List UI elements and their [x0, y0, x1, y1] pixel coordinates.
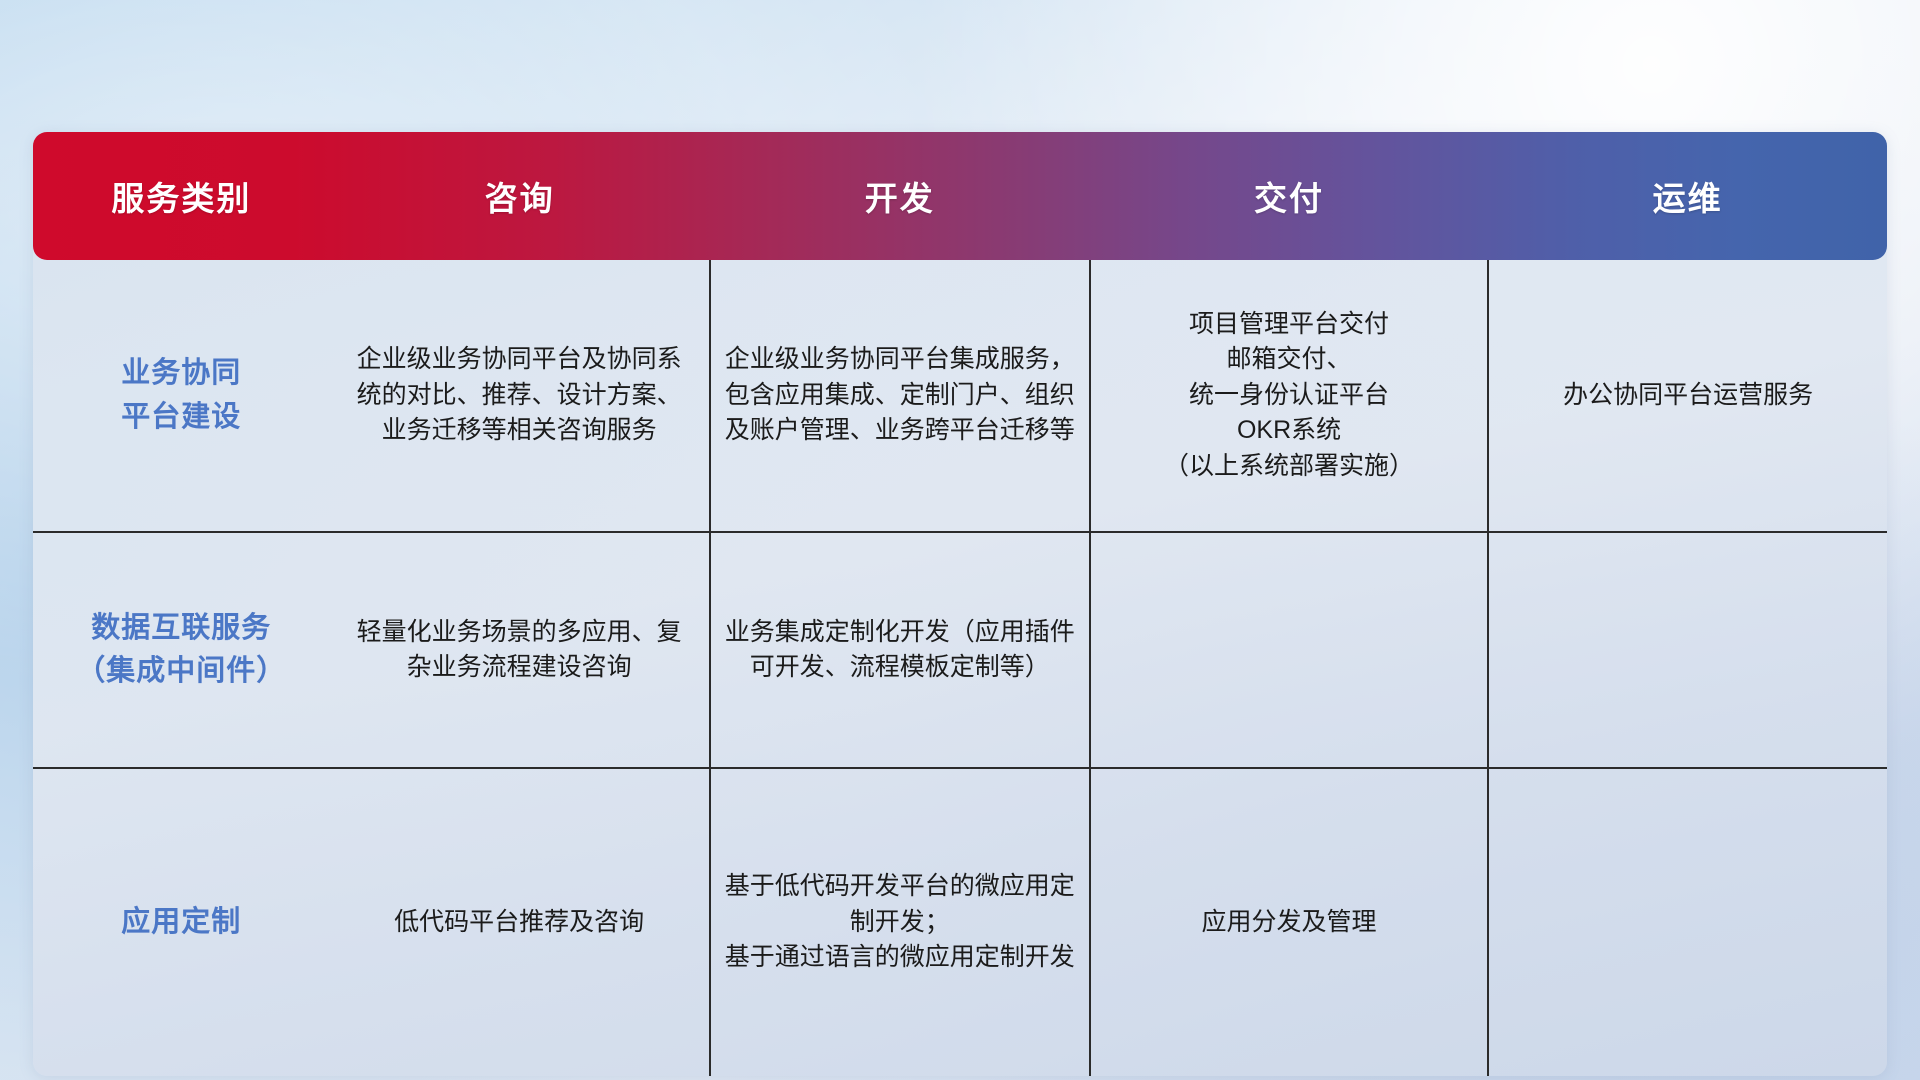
- cell-row3-delivery: 应用分发及管理: [1090, 768, 1489, 1076]
- service-matrix-table-wrapper: 服务类别 咨询 开发 交付 运维 业务协同 平台建设 企业级业务协同平台及协同系…: [33, 132, 1887, 948]
- service-matrix-table: 服务类别 咨询 开发 交付 运维 业务协同 平台建设 企业级业务协同平台及协同系…: [33, 132, 1887, 1076]
- column-header-development: 开发: [710, 132, 1090, 260]
- cell-row3-development: 基于低代码开发平台的微应用定 制开发； 基于通过语言的微应用定制开发: [710, 768, 1090, 1076]
- table-row: 应用定制 低代码平台推荐及咨询 基于低代码开发平台的微应用定 制开发； 基于通过…: [33, 768, 1887, 1076]
- header-row: 服务类别 咨询 开发 交付 运维: [33, 132, 1887, 260]
- cell-row1-operations: 办公协同平台运营服务: [1488, 260, 1887, 532]
- cell-row1-delivery: 项目管理平台交付 邮箱交付、 统一身份认证平台 OKR系统 （以上系统部署实施）: [1090, 260, 1489, 532]
- cell-row3-consulting: 低代码平台推荐及咨询: [330, 768, 710, 1076]
- cell-row2-development: 业务集成定制化开发（应用插件 可开发、流程模板定制等）: [710, 532, 1090, 768]
- cell-row2-operations: [1488, 532, 1887, 768]
- cell-row3-operations: [1488, 768, 1887, 1076]
- row-label-business-collaboration-platform: 业务协同 平台建设: [33, 260, 330, 532]
- column-header-delivery: 交付: [1090, 132, 1489, 260]
- table-row: 业务协同 平台建设 企业级业务协同平台及协同系 统的对比、推荐、设计方案、 业务…: [33, 260, 1887, 532]
- table-header: 服务类别 咨询 开发 交付 运维: [33, 132, 1887, 260]
- row-label-application-customization: 应用定制: [33, 768, 330, 1076]
- cell-row1-consulting: 企业级业务协同平台及协同系 统的对比、推荐、设计方案、 业务迁移等相关咨询服务: [330, 260, 710, 532]
- table-body: 业务协同 平台建设 企业级业务协同平台及协同系 统的对比、推荐、设计方案、 业务…: [33, 260, 1887, 1076]
- cell-row2-consulting: 轻量化业务场景的多应用、复 杂业务流程建设咨询: [330, 532, 710, 768]
- cell-row2-delivery: [1090, 532, 1489, 768]
- column-header-service-category: 服务类别: [33, 132, 330, 260]
- table-row: 数据互联服务 （集成中间件） 轻量化业务场景的多应用、复 杂业务流程建设咨询 业…: [33, 532, 1887, 768]
- row-label-data-interconnection-service: 数据互联服务 （集成中间件）: [33, 532, 330, 768]
- column-header-operations: 运维: [1488, 132, 1887, 260]
- column-header-consulting: 咨询: [330, 132, 710, 260]
- cell-row1-development: 企业级业务协同平台集成服务， 包含应用集成、定制门户、组织 及账户管理、业务跨平…: [710, 260, 1090, 532]
